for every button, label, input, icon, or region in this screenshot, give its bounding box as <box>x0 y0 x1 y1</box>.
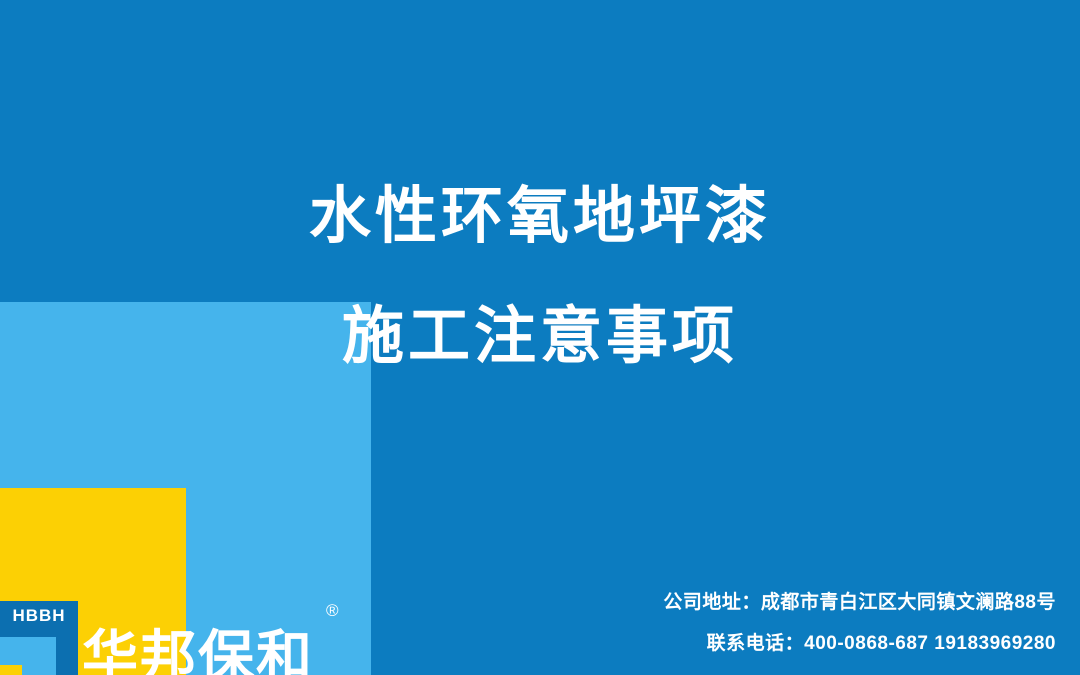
slide-title-line-1: 水性环氧地坪漆 <box>0 186 1080 248</box>
contact-phone: 联系电话：400-0868-687 19183969280 <box>663 634 1056 653</box>
company-logo: HBBH 华邦保和 ® <box>0 575 360 675</box>
logo-wordmark: 华邦保和 <box>82 629 314 675</box>
logo-mark-icon: HBBH <box>0 601 78 675</box>
slide-title-group: 水性环氧地坪漆 施工注意事项 <box>0 186 1080 368</box>
logo-mark-notch-yellow <box>0 665 22 675</box>
slide-canvas: 水性环氧地坪漆 施工注意事项 公司地址：成都市青白江区大同镇文澜路88号 联系电… <box>0 0 1080 675</box>
slide-title-line-2: 施工注意事项 <box>0 306 1080 368</box>
company-address: 公司地址：成都市青白江区大同镇文澜路88号 <box>663 593 1056 612</box>
contact-info: 公司地址：成都市青白江区大同镇文澜路88号 联系电话：400-0868-687 … <box>663 593 1056 653</box>
registered-trademark-icon: ® <box>326 602 339 619</box>
logo-mark-abbreviation: HBBH <box>0 601 78 631</box>
